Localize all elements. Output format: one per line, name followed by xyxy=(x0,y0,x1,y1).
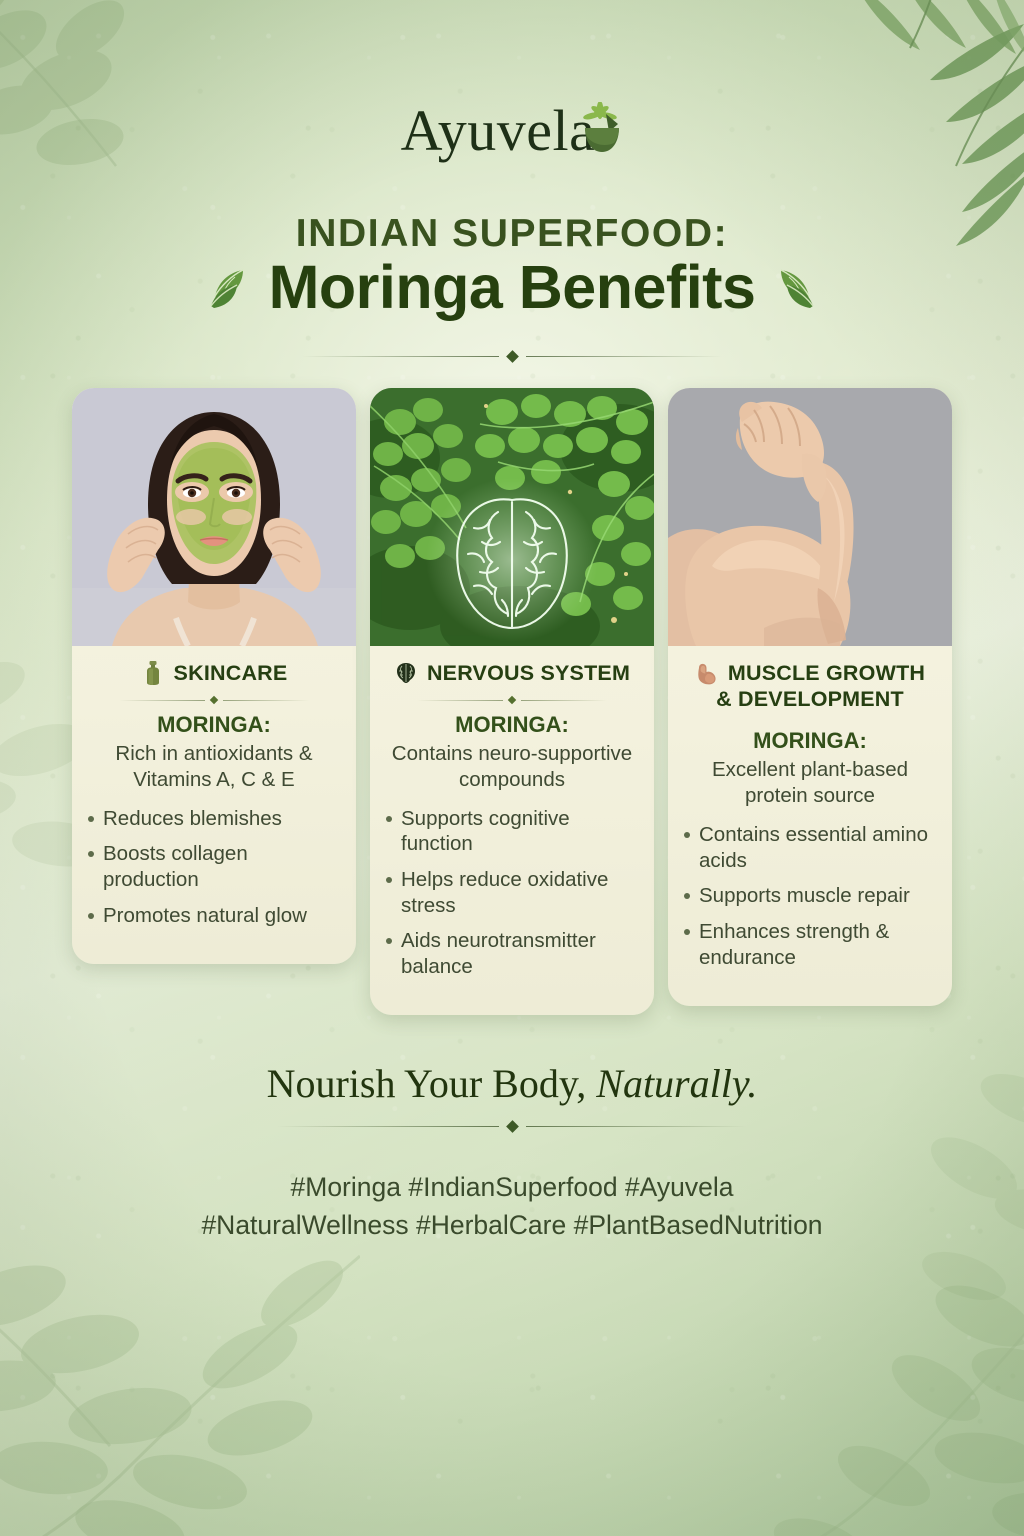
list-item: Aids neurotransmitter balance xyxy=(382,928,642,979)
muscle-growth-moringa-label: MORINGA: xyxy=(680,728,940,754)
list-item: Enhances strength & endurance xyxy=(680,919,940,970)
nervous-system-moringa-label: MORINGA: xyxy=(382,712,642,738)
nervous-system-divider xyxy=(417,697,607,703)
poster-canvas: Ayuvela INDIAN SUPERFOOD: xyxy=(0,0,1024,1536)
skincare-moringa-label: MORINGA: xyxy=(84,712,344,738)
header-divider xyxy=(302,352,722,361)
skincare-body: SKINCARE MORINGA: Rich in antioxidants &… xyxy=(72,646,356,964)
hashtags-line-2: #NaturalWellness #HerbalCare #PlantBased… xyxy=(0,1206,1024,1244)
flexed-bicep-icon xyxy=(695,660,719,686)
footer-divider xyxy=(277,1122,747,1131)
benefit-cards: SKINCARE MORINGA: Rich in antioxidants &… xyxy=(72,388,956,1015)
muscle-growth-photo xyxy=(668,388,952,646)
brand-logo-text: Ayuvela xyxy=(401,102,596,160)
list-item: Contains essential amino acids xyxy=(680,822,940,873)
leaf-ornament-right-icon xyxy=(769,264,815,310)
muscle-growth-title-text: MUSCLE GROWTH xyxy=(728,660,925,686)
benefit-card-nervous-system[interactable]: NERVOUS SYSTEM MORINGA: Contains neuro-s… xyxy=(370,388,654,1015)
nervous-system-moringa-desc: Contains neuro-supportive compounds xyxy=(382,741,642,793)
skincare-title-text: SKINCARE xyxy=(174,661,288,686)
skincare-moringa-desc: Rich in antioxidants & Vitamins A, C & E xyxy=(84,741,344,793)
list-item: Boosts collagen production xyxy=(84,841,344,892)
hashtags: #Moringa #IndianSuperfood #Ayuvela #Natu… xyxy=(0,1168,1024,1245)
muscle-growth-moringa-desc: Excellent plant-based protein source xyxy=(680,757,940,809)
nervous-system-bullet-list: Supports cognitive function Helps reduce… xyxy=(382,806,642,980)
kicker-text: INDIAN SUPERFOOD: xyxy=(0,212,1024,256)
skincare-photo xyxy=(72,388,356,646)
list-item: Promotes natural glow xyxy=(84,903,344,929)
leaf-ornament-left-icon xyxy=(209,264,255,310)
muscle-growth-title: MUSCLE GROWTH & DEVELOPMENT xyxy=(680,660,940,712)
list-item: Helps reduce oxidative stress xyxy=(382,867,642,918)
list-item: Supports cognitive function xyxy=(382,806,642,857)
woman-face-mask-image xyxy=(72,388,356,646)
moringa-leaves-brain-image xyxy=(370,388,654,646)
benefit-card-skincare[interactable]: SKINCARE MORINGA: Rich in antioxidants &… xyxy=(72,388,356,964)
tagline-italic: Naturally. xyxy=(596,1061,757,1106)
brand-logo[interactable]: Ayuvela xyxy=(0,102,1024,174)
benefit-card-muscle-growth[interactable]: MUSCLE GROWTH & DEVELOPMENT MORINGA: Exc… xyxy=(668,388,952,1006)
brain-icon xyxy=(394,660,418,686)
tagline-plain: Nourish Your Body, xyxy=(267,1061,597,1106)
nervous-system-title-text: NERVOUS SYSTEM xyxy=(427,661,630,686)
skincare-bullet-list: Reduces blemishes Boosts collagen produc… xyxy=(84,806,344,929)
tagline: Nourish Your Body, Naturally. xyxy=(0,1060,1024,1107)
mortar-pestle-leaf-icon xyxy=(579,102,623,158)
nervous-system-photo xyxy=(370,388,654,646)
list-item: Supports muscle repair xyxy=(680,883,940,909)
skincare-divider xyxy=(119,697,309,703)
lotion-bottle-icon xyxy=(141,660,165,686)
headline-row: Moringa Benefits xyxy=(0,252,1024,322)
leaf-silhouette-bottom-right xyxy=(724,1226,1024,1536)
list-item: Reduces blemishes xyxy=(84,806,344,832)
muscle-growth-bullet-list: Contains essential amino acids Supports … xyxy=(680,822,940,970)
nervous-system-title: NERVOUS SYSTEM xyxy=(382,660,642,686)
nervous-system-body: NERVOUS SYSTEM MORINGA: Contains neuro-s… xyxy=(370,646,654,1015)
muscle-growth-body: MUSCLE GROWTH & DEVELOPMENT MORINGA: Exc… xyxy=(668,646,952,1006)
hashtags-line-1: #Moringa #IndianSuperfood #Ayuvela xyxy=(0,1168,1024,1206)
skincare-title: SKINCARE xyxy=(84,660,344,686)
flexed-arm-image xyxy=(668,388,952,646)
headline-text: Moringa Benefits xyxy=(269,252,756,322)
muscle-growth-title-text-2: & DEVELOPMENT xyxy=(716,686,904,712)
